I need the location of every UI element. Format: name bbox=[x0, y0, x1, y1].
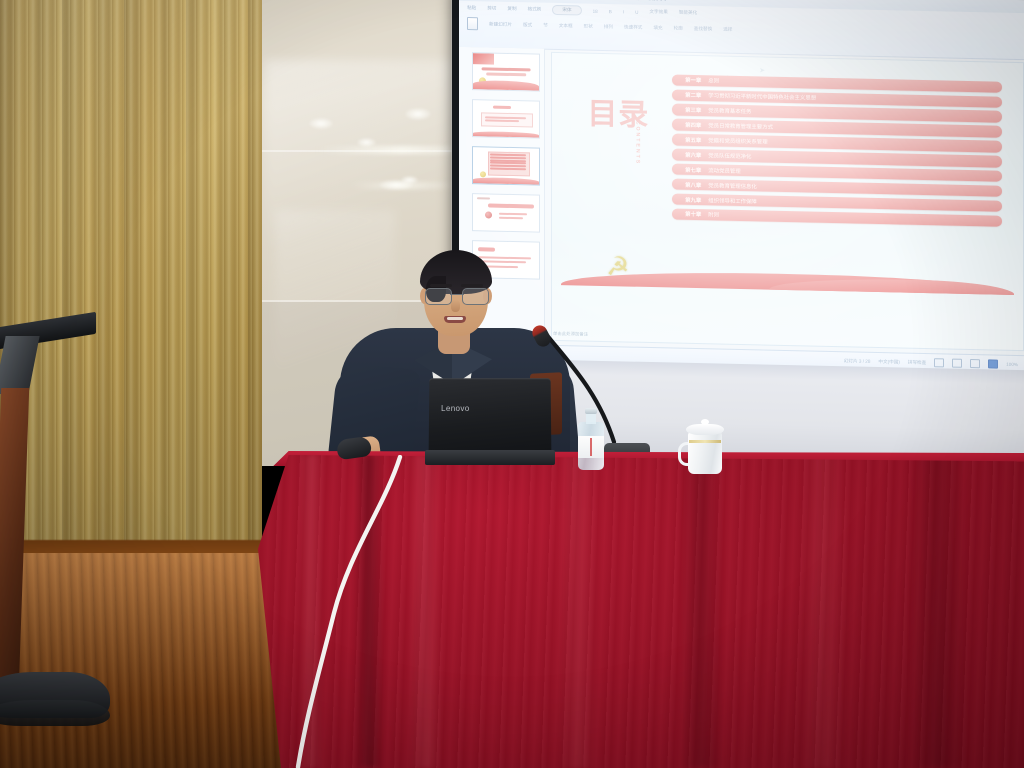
font-size-select[interactable]: 18 bbox=[593, 8, 598, 13]
find-replace-button[interactable]: 查找替换 bbox=[694, 25, 712, 31]
toc-item-text: 党员教育基本任务 bbox=[708, 106, 751, 115]
lens-right bbox=[462, 288, 489, 305]
toc-item-text: 党员教育管理信息化 bbox=[708, 181, 757, 190]
bottle-label-stripe bbox=[590, 438, 592, 456]
water-bottle bbox=[578, 408, 604, 470]
glasses-bridge bbox=[450, 294, 464, 295]
toc-item-number: 第四章 bbox=[685, 121, 701, 129]
cut-button[interactable]: 剪切 bbox=[487, 5, 496, 11]
decor-bar bbox=[477, 197, 490, 200]
tab-animation[interactable]: 动画 bbox=[572, 0, 582, 1]
toc-item-number: 第八章 bbox=[685, 180, 701, 188]
arrange-button[interactable]: 排列 bbox=[604, 24, 613, 30]
decor-circle bbox=[485, 211, 492, 218]
cup-gold-trim bbox=[689, 440, 721, 443]
toc-item-number: 第七章 bbox=[685, 166, 701, 174]
slideshow-play-icon[interactable] bbox=[988, 359, 998, 368]
section-button[interactable]: 节 bbox=[543, 22, 548, 28]
quick-style-button[interactable]: 快速样式 bbox=[624, 24, 642, 30]
decor-section-pill bbox=[493, 106, 511, 109]
shape-button[interactable]: 形状 bbox=[584, 23, 593, 29]
tab-member[interactable]: 会员专享 bbox=[648, 0, 668, 2]
cup-lid bbox=[686, 424, 724, 435]
text-effects-button[interactable]: 文字效果 bbox=[649, 9, 667, 15]
tab-slideshow[interactable]: 放映 bbox=[591, 0, 601, 1]
toc-item-text: 党籍和党员组织关系管理 bbox=[708, 136, 767, 145]
toc-item-10[interactable]: 第十章 附则 bbox=[672, 208, 1002, 227]
language-indicator[interactable]: 中文(中国) bbox=[878, 358, 899, 364]
decor-title-line bbox=[482, 67, 531, 71]
lenovo-logo: Lenovo bbox=[441, 404, 470, 413]
decor-wave bbox=[473, 177, 539, 184]
toc-item-number: 第一章 bbox=[685, 76, 701, 84]
toc-item-text: 流动党员管理 bbox=[708, 166, 740, 175]
italic-button[interactable]: I bbox=[623, 9, 624, 14]
decor-pill bbox=[488, 203, 534, 208]
cup-body bbox=[688, 432, 722, 474]
toc-list[interactable]: 第一章 总则 第二章 学习贯彻习近平新时代中国特色社会主义思想 第三章 党员教育… bbox=[672, 74, 1002, 227]
wood-floor bbox=[0, 553, 300, 768]
decor-wave bbox=[473, 131, 539, 137]
textbox-button[interactable]: 文本框 bbox=[559, 23, 573, 29]
bird-decor-icon: ➤ bbox=[759, 66, 765, 74]
font-family-select[interactable]: 宋体 bbox=[552, 5, 581, 16]
bold-button[interactable]: B bbox=[609, 9, 612, 14]
toc-item-number: 第六章 bbox=[685, 151, 701, 159]
laptop-lid: Lenovo bbox=[429, 378, 552, 454]
decor-bar bbox=[499, 213, 527, 216]
toc-item-number: 第三章 bbox=[685, 106, 701, 114]
slide-sorter-view-icon[interactable] bbox=[952, 359, 962, 368]
slide-thumbnail-1[interactable]: 1 bbox=[472, 52, 540, 91]
toc-item-number: 第九章 bbox=[685, 195, 701, 203]
toc-item-text: 总则 bbox=[708, 77, 719, 85]
paste-button[interactable]: 粘贴 bbox=[467, 5, 476, 11]
underline-button[interactable]: U bbox=[635, 9, 638, 14]
smart-beautify-button[interactable]: 智能美化 bbox=[679, 10, 697, 16]
bottle-cap bbox=[585, 408, 597, 414]
outline-button[interactable]: 轮廓 bbox=[674, 25, 683, 31]
format-painter-button[interactable]: 格式刷 bbox=[528, 6, 542, 12]
lens-left bbox=[425, 288, 452, 305]
decor-wave bbox=[473, 80, 539, 90]
laptop-base bbox=[425, 450, 555, 465]
fill-button[interactable]: 填充 bbox=[653, 25, 662, 31]
toc-item-text: 学习贯彻习近平新时代中国特色社会主义思想 bbox=[708, 92, 816, 102]
slide-thumbnail-4[interactable]: 4 bbox=[472, 193, 540, 232]
layout-button[interactable]: 版式 bbox=[523, 22, 532, 28]
new-slide-button[interactable]: 新建幻灯片 bbox=[489, 21, 512, 28]
eyebrow-right bbox=[461, 284, 483, 287]
slide-title-en: CONTENTS bbox=[634, 121, 640, 166]
mouth bbox=[444, 316, 466, 323]
party-emblem-icon bbox=[480, 171, 486, 177]
tab-view[interactable]: 视图 bbox=[629, 0, 639, 2]
reading-view-icon[interactable] bbox=[970, 359, 980, 368]
new-slide-icon[interactable] bbox=[467, 17, 478, 30]
select-button[interactable]: 选择 bbox=[723, 26, 732, 32]
slide-counter: 幻灯片 3 / 28 bbox=[844, 358, 871, 365]
eyebrow-left bbox=[430, 284, 452, 287]
laptop-lenovo: Lenovo bbox=[425, 378, 555, 470]
nose bbox=[451, 300, 460, 312]
toc-item-text: 党员队伍规范净化 bbox=[708, 151, 751, 160]
decor-corner bbox=[473, 53, 494, 64]
white-usb-cable bbox=[272, 455, 412, 768]
lectern-base-lower bbox=[0, 700, 110, 726]
copy-button[interactable]: 复制 bbox=[507, 6, 516, 12]
wood-panel-wall bbox=[0, 0, 262, 556]
lecture-photo-scene: 文件 开始 插入 设计 切换 动画 放映 审阅 视图 会员专享 粘贴 剪切 复制… bbox=[0, 0, 1024, 768]
toc-item-number: 第十章 bbox=[685, 210, 701, 218]
decor-subtitle-line bbox=[486, 73, 526, 76]
slide-thumbnail-3[interactable]: 3 bbox=[472, 146, 540, 185]
slide-editing-canvas[interactable]: ➤ ➤ ➤ 目录 CONTENTS 第一章 总则 第二章 学习贯彻习近平新时代中… bbox=[551, 52, 1024, 351]
toc-item-text: 附则 bbox=[708, 211, 719, 219]
tea-cup bbox=[684, 418, 730, 474]
toc-item-text: 组织领导和工作保障 bbox=[708, 196, 757, 205]
zoom-level[interactable]: 100% bbox=[1006, 362, 1018, 367]
decor-bar bbox=[499, 217, 523, 220]
spellcheck-indicator[interactable]: 拼写检查 bbox=[908, 359, 926, 365]
toc-item-text: 党员日常教育管理主要方式 bbox=[708, 121, 773, 130]
cup-lid-knob bbox=[701, 419, 709, 425]
toc-item-number: 第五章 bbox=[685, 136, 701, 144]
toc-item-number: 第二章 bbox=[685, 91, 701, 99]
tab-review[interactable]: 审阅 bbox=[610, 0, 620, 1]
slide-thumbnail-2[interactable]: 2 bbox=[472, 99, 540, 138]
normal-view-icon[interactable] bbox=[934, 358, 944, 367]
